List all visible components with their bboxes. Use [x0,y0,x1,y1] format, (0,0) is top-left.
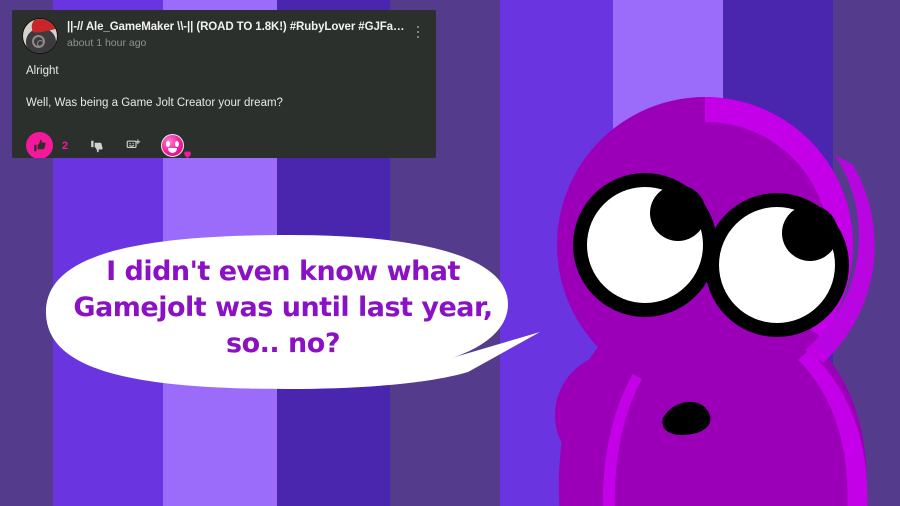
left-pupil [650,185,706,241]
gamejolt-post-card[interactable]: ||-// Ale_GameMaker \\-|| (ROAD TO 1.8K!… [12,10,436,158]
thumbs-down-icon [90,139,104,153]
post-username[interactable]: ||-// Ale_GameMaker \\-|| (ROAD TO 1.8K!… [67,20,410,34]
speech-bubble: I didn't even know what Gamejolt was unt… [38,232,558,392]
pink-face-sticker-icon [161,134,184,157]
like-count: 2 [62,140,68,152]
kebab-dot [417,36,420,39]
speech-bubble-text: I didn't even know what Gamejolt was unt… [58,254,508,362]
post-actions: 2 [12,128,436,158]
heart-icon [183,150,192,158]
kebab-menu-icon[interactable] [410,20,426,44]
santa-hat-icon [30,18,58,34]
post-timestamp: about 1 hour ago [67,35,410,51]
add-sticker-button[interactable] [126,138,141,153]
post-line: Alright [26,64,422,79]
sticker-eye [166,141,170,147]
add-sticker-icon [126,138,141,153]
right-pupil [782,205,838,261]
sticker-mouth [168,148,177,153]
dislike-button[interactable] [90,139,104,153]
like-button[interactable] [26,132,53,158]
kebab-dot [417,31,420,34]
screenshot-stage: I didn't even know what Gamejolt was unt… [0,0,900,506]
kebab-dot [417,26,420,29]
post-body: Alright Well, Was being a Game Jolt Crea… [12,54,436,111]
avatar[interactable] [22,18,58,54]
avatar-spiral-icon [32,35,45,48]
thumbs-up-icon [33,139,47,153]
reaction-sticker[interactable] [161,134,184,157]
sticker-eye [175,141,179,147]
purple-blob-character [505,95,900,506]
post-line: Well, Was being a Game Jolt Creator your… [26,96,422,111]
character-illustration [505,95,900,506]
post-header: ||-// Ale_GameMaker \\-|| (ROAD TO 1.8K!… [12,10,436,54]
post-header-text: ||-// Ale_GameMaker \\-|| (ROAD TO 1.8K!… [67,18,410,51]
